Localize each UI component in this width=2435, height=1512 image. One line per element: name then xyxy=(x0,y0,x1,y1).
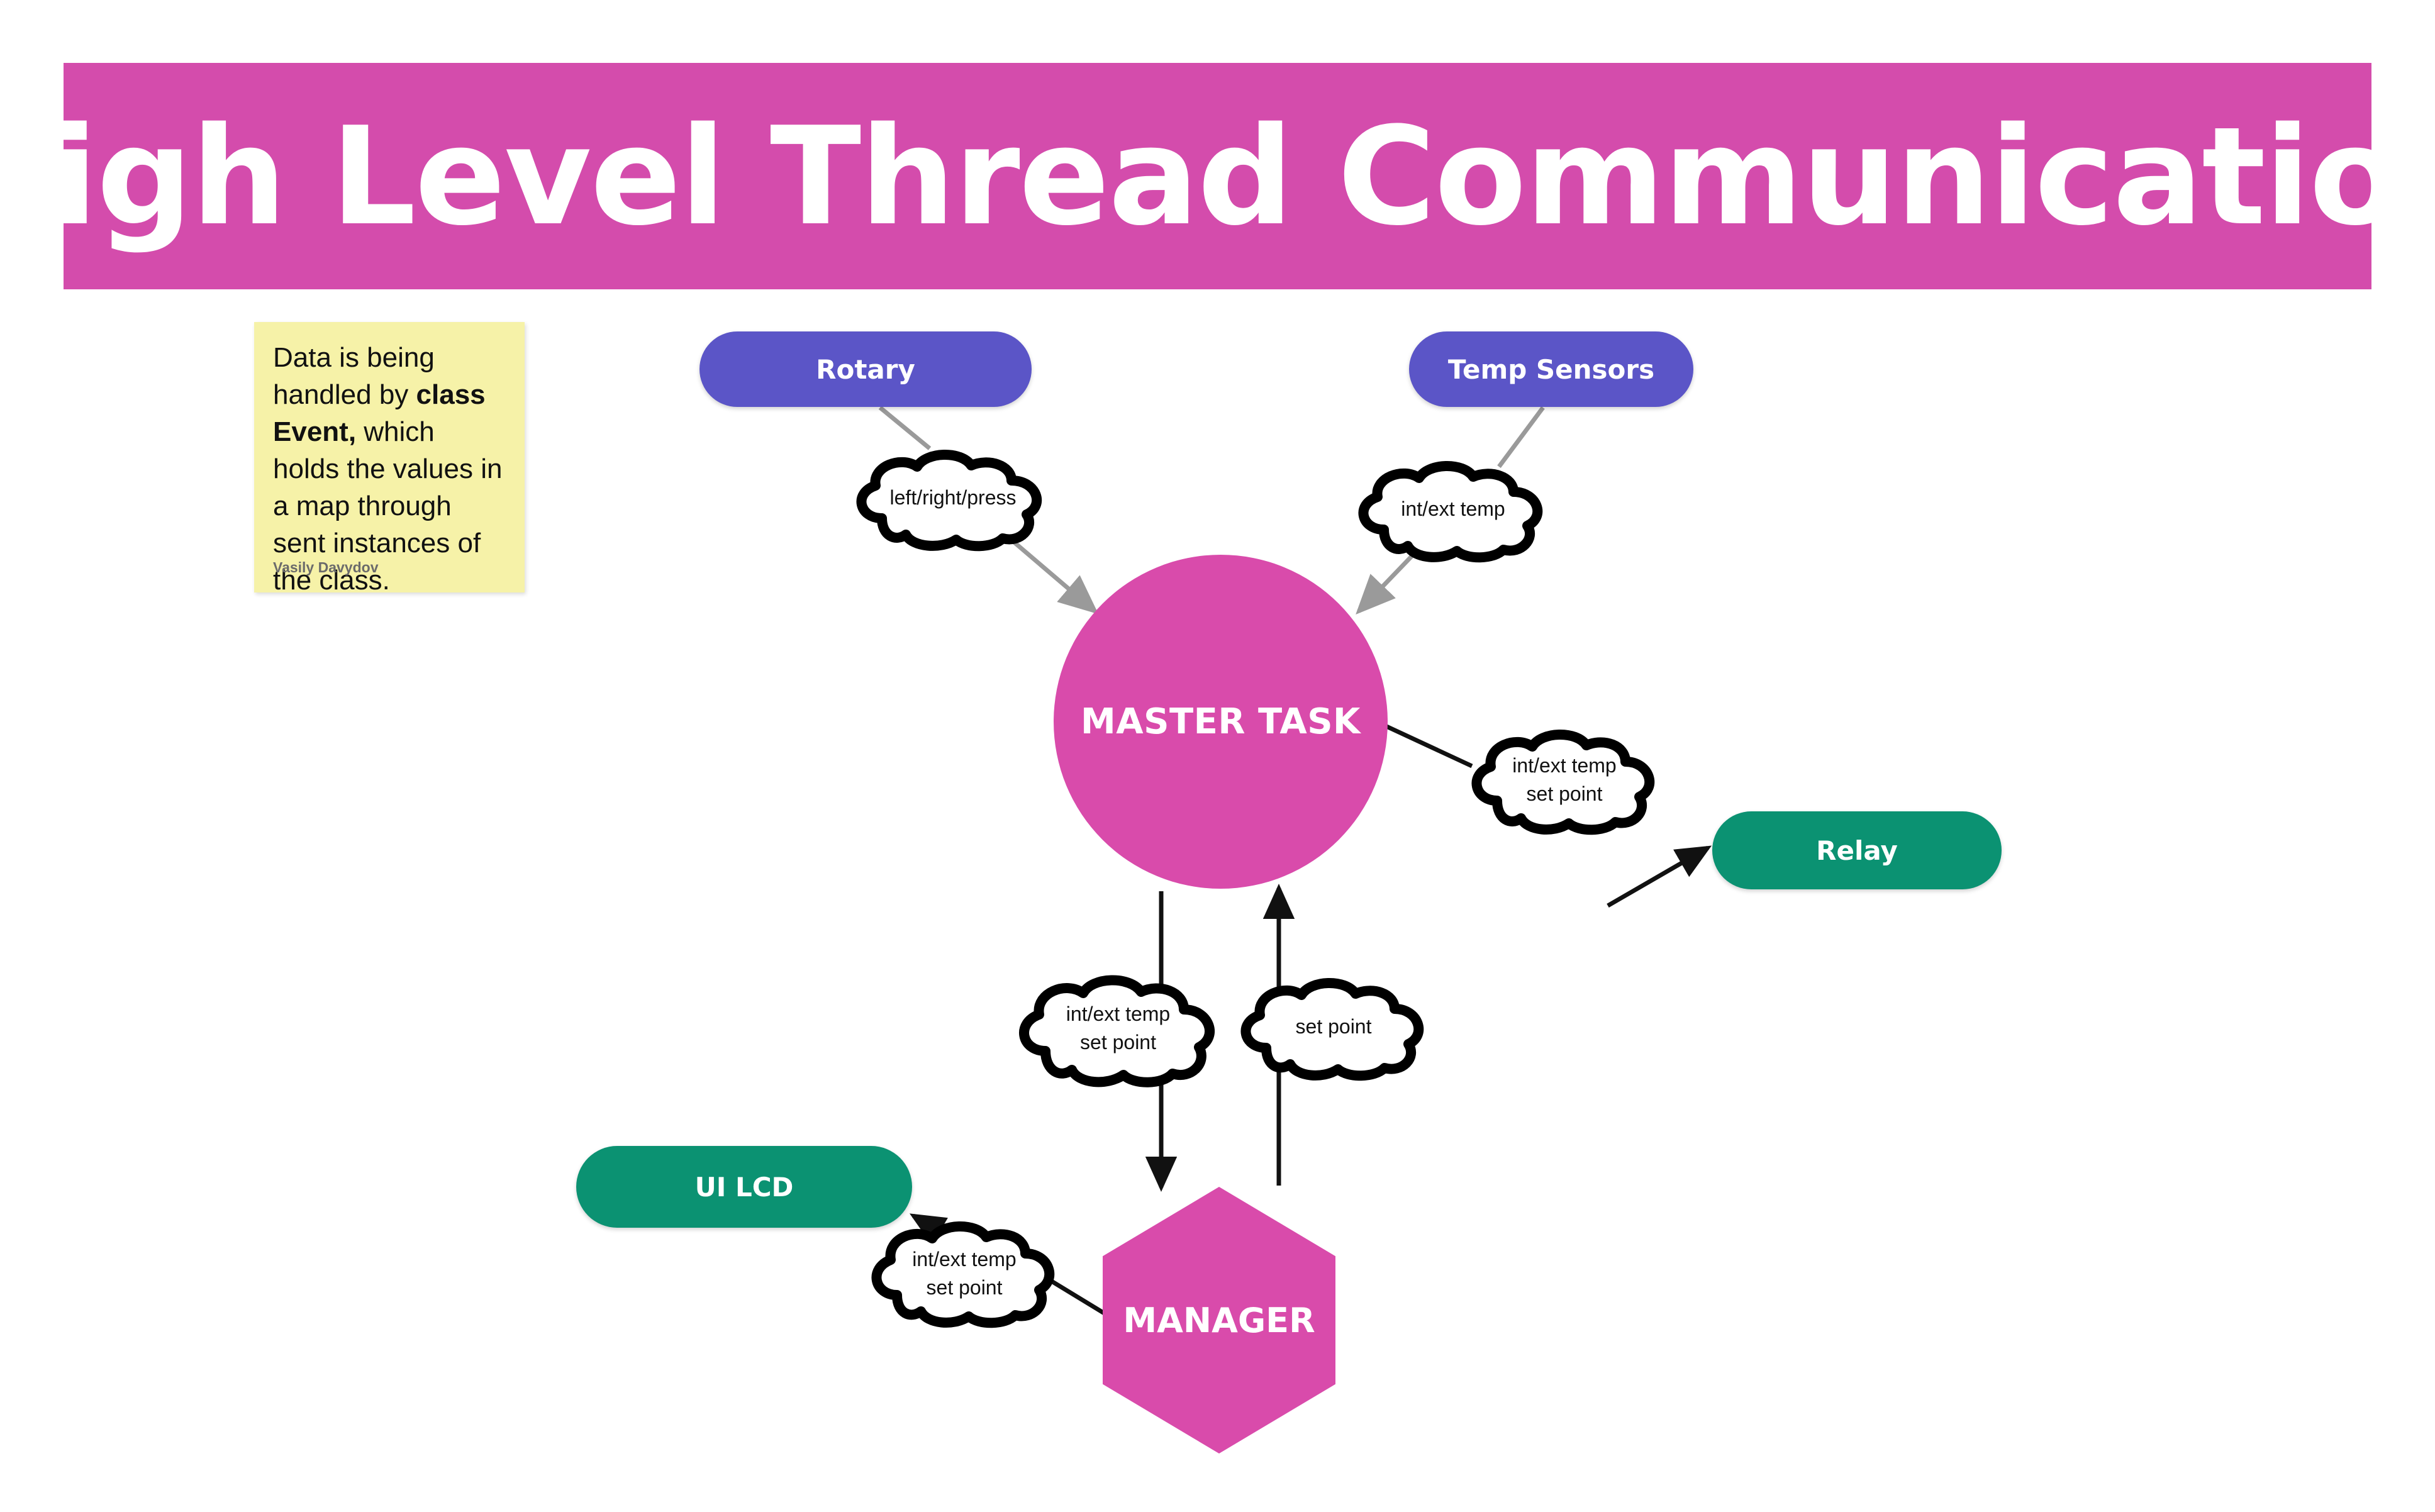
node-rotary[interactable]: Rotary xyxy=(699,331,1032,407)
cloud-relay-data[interactable]: int/ext temp set point xyxy=(1461,726,1668,833)
edge-temp-to-cloud xyxy=(1499,408,1543,467)
node-master-task[interactable]: MASTER TASK xyxy=(1054,555,1388,889)
node-manager-label: MANAGER xyxy=(1123,1301,1315,1340)
cloud-manager-down[interactable]: int/ext temp set point xyxy=(1006,972,1230,1085)
node-relay[interactable]: Relay xyxy=(1712,811,2002,889)
cloud-rotary-events[interactable]: left/right/press xyxy=(843,448,1063,548)
cloud-lcd-data[interactable]: int/ext temp set point xyxy=(861,1217,1068,1330)
node-temp-sensors[interactable]: Temp Sensors xyxy=(1409,331,1693,407)
edge-rotary-to-cloud xyxy=(880,408,930,448)
node-ui-lcd[interactable]: UI LCD xyxy=(576,1146,912,1228)
diagram-canvas: High Level Thread Communication Data is … xyxy=(0,0,2435,1512)
cloud-manager-up[interactable]: set point xyxy=(1230,975,1437,1079)
cloud-temp-events[interactable]: int/ext temp xyxy=(1346,459,1560,560)
edge-cloud-to-relay xyxy=(1608,848,1708,906)
